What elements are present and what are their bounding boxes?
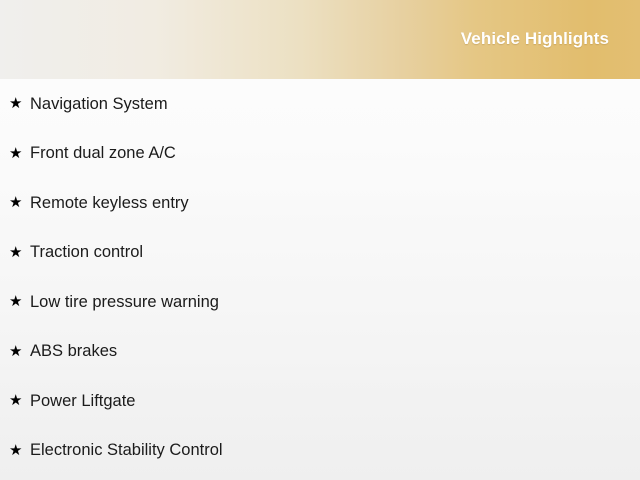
list-item-label: Electronic Stability Control [30,440,223,460]
list-item: ★ Traction control [0,228,640,278]
list-item-label: Traction control [30,242,143,262]
list-item: ★ Remote keyless entry [0,178,640,228]
list-item: ★ Navigation System [0,79,640,129]
list-item-label: Power Liftgate [30,391,135,411]
vehicle-highlights-list: ★ Navigation System ★ Front dual zone A/… [0,79,640,475]
list-item-label: Front dual zone A/C [30,143,176,163]
list-item-label: Low tire pressure warning [30,292,219,312]
star-icon: ★ [9,294,30,309]
list-item-label: Remote keyless entry [30,193,189,213]
list-item: ★ Front dual zone A/C [0,129,640,179]
vehicle-highlights-panel: Vehicle Highlights ★ Navigation System ★… [0,0,640,480]
star-icon: ★ [9,443,30,458]
star-icon: ★ [9,245,30,260]
list-item-label: Navigation System [30,94,168,114]
list-item: ★ Low tire pressure warning [0,277,640,327]
list-item-label: ABS brakes [30,341,117,361]
list-item: ★ Power Liftgate [0,376,640,426]
star-icon: ★ [9,96,30,111]
header-banner: Vehicle Highlights [0,0,640,79]
list-item: ★ ABS brakes [0,327,640,377]
page-title: Vehicle Highlights [461,29,609,49]
star-icon: ★ [9,195,30,210]
list-item: ★ Electronic Stability Control [0,426,640,476]
star-icon: ★ [9,393,30,408]
star-icon: ★ [9,344,30,359]
star-icon: ★ [9,146,30,161]
